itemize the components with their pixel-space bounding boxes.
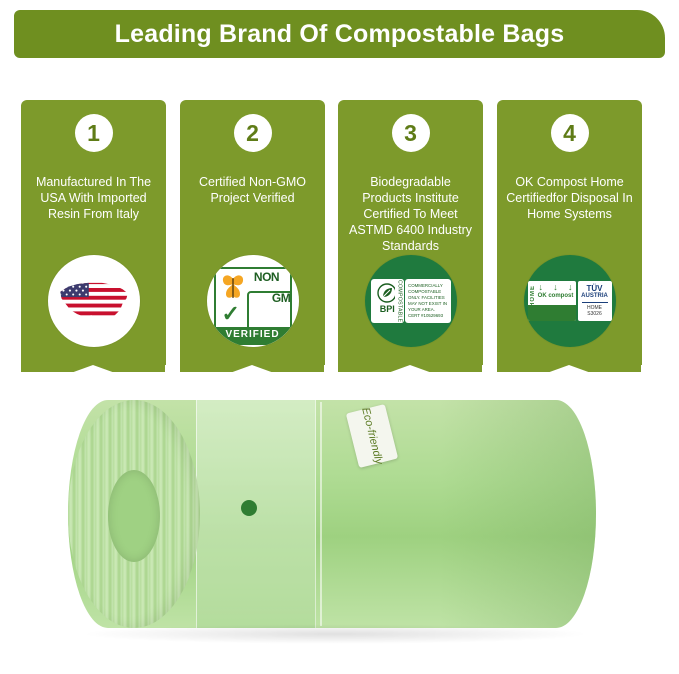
card-number-badge-3: 3	[392, 114, 430, 152]
tuv-austria-mark: TÜV AUSTRIA HOME S3026	[578, 281, 612, 321]
divider	[582, 302, 608, 303]
ok-compost-home-tuv-austria-icon: HOME ↓↓↓ OK compost TÜV AUSTRIA HOME S30…	[528, 281, 612, 321]
header-banner: Leading Brand Of Compostable Bags	[14, 10, 665, 58]
card-text-2: Certified Non-GMO Project Verified	[188, 174, 317, 206]
logo-circle-2: ✓ NON GMO Project VERIFIED	[207, 255, 299, 347]
logo-circle-3: BPI COMPOSTABLE COMMERCIALLY COMPOSTABLE…	[365, 255, 457, 347]
feature-card-3: 3 Biodegradable Products Institute Certi…	[338, 100, 483, 365]
card-number-badge-4: 4	[551, 114, 589, 152]
bag-roll-end-face	[68, 400, 200, 628]
card-text-3: Biodegradable Products Institute Certifi…	[346, 174, 475, 254]
bag-roll-core	[108, 470, 160, 562]
feature-card-4: 4 OK Compost Home Certifiedfor Disposal …	[497, 100, 642, 365]
eco-friendly-tag-label: Eco-friendly	[359, 406, 385, 465]
feature-cards-row: 1 Manufactured In The USA With Imported …	[0, 100, 679, 370]
home-vertical-label: HOME	[530, 285, 536, 307]
austria-label: AUSTRIA	[581, 293, 608, 300]
card-number-badge-1: 1	[75, 114, 113, 152]
cert-number-label: S3026	[587, 311, 601, 317]
bag-roll-band	[196, 400, 316, 628]
bpi-label: BPI	[380, 304, 395, 314]
ok-compost-home-mark: HOME ↓↓↓ OK compost	[528, 281, 576, 321]
card-text-4: OK Compost Home Certifiedfor Disposal In…	[505, 174, 634, 222]
non-gmo-project-verified-icon: ✓ NON GMO Project VERIFIED	[214, 267, 292, 345]
plants-strip	[528, 305, 576, 321]
ok-compost-label: OK compost	[537, 293, 575, 299]
product-shadow	[80, 624, 590, 644]
bag-roll-shading	[440, 400, 596, 628]
tuv-label: TÜV	[587, 285, 603, 293]
feature-card-2: 2 Certified Non-GMO Project Verified ✓ N…	[180, 100, 325, 365]
usa-flag-map-icon	[48, 255, 140, 347]
bpi-disclaimer: COMMERCIALLY COMPOSTABLE ONLY. FACILITIE…	[405, 279, 450, 323]
bpi-side-label: COMPOSTABLE	[395, 279, 404, 323]
bpi-compostable-icon: BPI COMPOSTABLE COMMERCIALLY COMPOSTABLE…	[371, 279, 451, 323]
verified-banner: VERIFIED	[216, 327, 290, 343]
feature-card-1: 1 Manufactured In The USA With Imported …	[21, 100, 166, 365]
card-text-1: Manufactured In The USA With Imported Re…	[29, 174, 158, 222]
logo-circle-1	[48, 255, 140, 347]
page-title: Leading Brand Of Compostable Bags	[115, 20, 565, 49]
check-icon: ✓	[222, 303, 240, 325]
bag-roll-dot	[241, 500, 257, 516]
bag-roll-seam	[320, 402, 322, 626]
bpi-mark: BPI COMPOSTABLE	[371, 279, 405, 323]
arrows-icon: ↓↓↓	[539, 283, 573, 292]
card-number-badge-2: 2	[234, 114, 272, 152]
usa-flag-map-shape	[55, 275, 133, 327]
product-photo: Eco-friendly	[0, 372, 679, 674]
logo-circle-4: HOME ↓↓↓ OK compost TÜV AUSTRIA HOME S30…	[524, 255, 616, 347]
